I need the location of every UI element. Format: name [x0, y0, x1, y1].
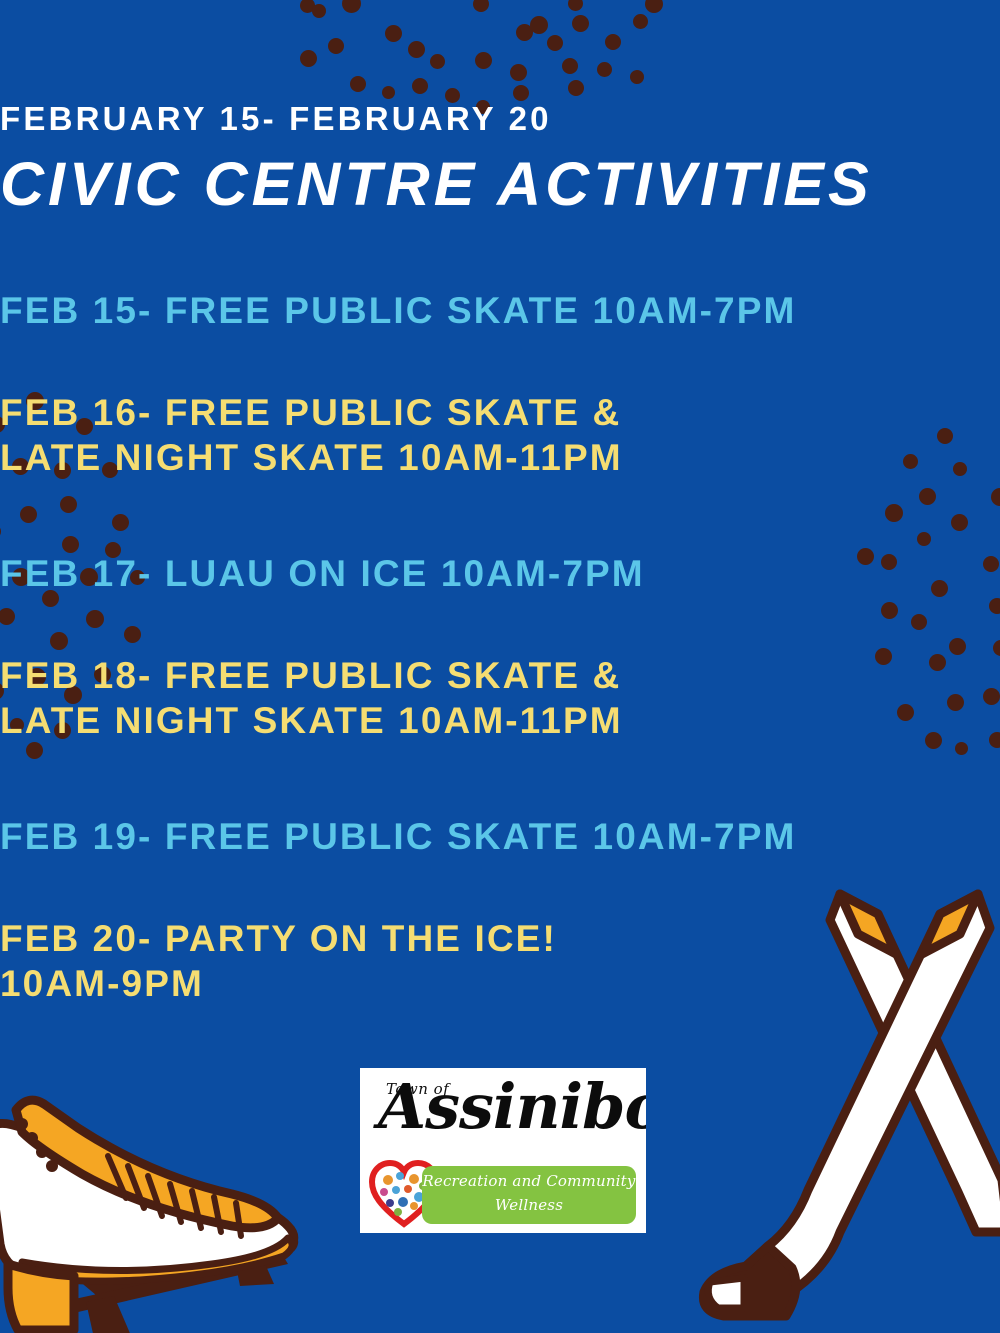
crossed-hockey-sticks-icon	[690, 880, 1000, 1333]
ice-skate-icon	[0, 1048, 312, 1333]
event-feb-16-line-1: FEB 16- FREE PUBLIC SKATE &	[0, 390, 1000, 435]
event-feb-18-line-1: FEB 18- FREE PUBLIC SKATE &	[0, 653, 1000, 698]
logo-tagline-line-2: Wellness	[422, 1190, 636, 1214]
event-feb-15: FEB 15- FREE PUBLIC SKATE 10AM-7PM	[0, 288, 1000, 333]
logo-tagline-line-1: Recreation and Community	[422, 1166, 636, 1190]
event-feb-18: FEB 18- FREE PUBLIC SKATE & LATE NIGHT S…	[0, 653, 1000, 743]
logo-tagline-banner: Recreation and Community Wellness	[422, 1166, 636, 1224]
event-feb-18-line-2: LATE NIGHT SKATE 10AM-11PM	[0, 698, 1000, 743]
event-feb-17: FEB 17- LUAU ON ICE 10AM-7PM	[0, 551, 1000, 596]
event-feb-16: FEB 16- FREE PUBLIC SKATE & LATE NIGHT S…	[0, 390, 1000, 480]
event-feb-16-line-2: LATE NIGHT SKATE 10AM-11PM	[0, 435, 1000, 480]
date-range-kicker: FEBRUARY 15- FEBRUARY 20	[0, 102, 1000, 135]
logo-town-name: Assiniboia	[378, 1076, 646, 1138]
page-title: CIVIC CENTRE ACTIVITIES	[0, 152, 1000, 218]
event-feb-19-line-1: FEB 19- FREE PUBLIC SKATE 10AM-7PM	[0, 814, 1000, 859]
assiniboia-logo[interactable]: Town of Assiniboia Recreation and Commun…	[360, 1068, 646, 1233]
event-feb-17-line-1: FEB 17- LUAU ON ICE 10AM-7PM	[0, 551, 1000, 596]
event-feb-15-line-1: FEB 15- FREE PUBLIC SKATE 10AM-7PM	[0, 288, 1000, 333]
poster-canvas: FEBRUARY 15- FEBRUARY 20 CIVIC CENTRE AC…	[0, 0, 1000, 1333]
event-feb-19: FEB 19- FREE PUBLIC SKATE 10AM-7PM	[0, 814, 1000, 859]
